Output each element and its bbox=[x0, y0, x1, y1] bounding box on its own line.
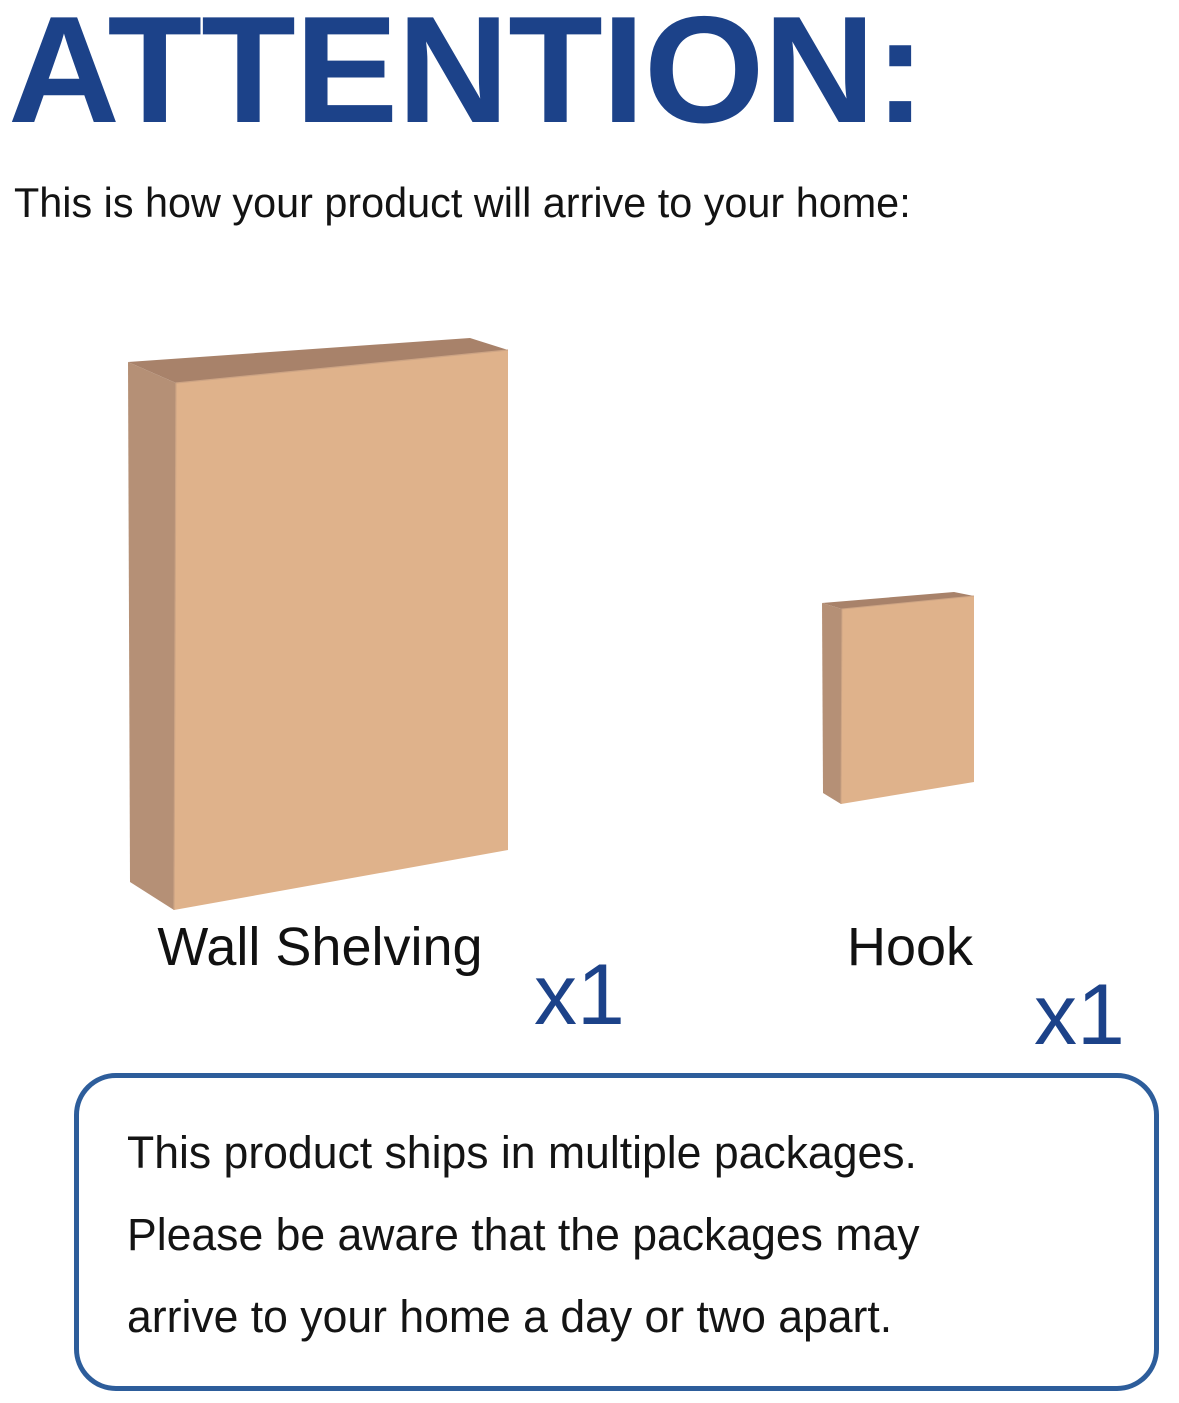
package-item-wall-shelving bbox=[118, 310, 518, 915]
package-caption-hook: Hook bbox=[745, 920, 1075, 974]
notice-line-1: This product ships in multiple packages. bbox=[127, 1112, 1117, 1194]
package-item-hook bbox=[812, 580, 987, 820]
package-caption-wall-shelving: Wall Shelving bbox=[60, 920, 580, 974]
notice-line-3: arrive to your home a day or two apart. bbox=[127, 1276, 1117, 1358]
cardboard-box-small-icon bbox=[812, 580, 987, 820]
page-title: ATTENTION: bbox=[8, 0, 1179, 146]
notice-line-2: Please be aware that the packages may bbox=[127, 1194, 1117, 1276]
quantity-label-hook: x1 bbox=[1034, 972, 1125, 1058]
cardboard-box-large-icon bbox=[118, 310, 518, 915]
packages-illustration: x1 Wall Shelving x1 Hook bbox=[0, 280, 1179, 1020]
shipping-notice-callout: This product ships in multiple packages.… bbox=[74, 1073, 1159, 1391]
page-subtitle: This is how your product will arrive to … bbox=[14, 180, 911, 226]
shipping-notice-text: This product ships in multiple packages.… bbox=[127, 1112, 1127, 1358]
